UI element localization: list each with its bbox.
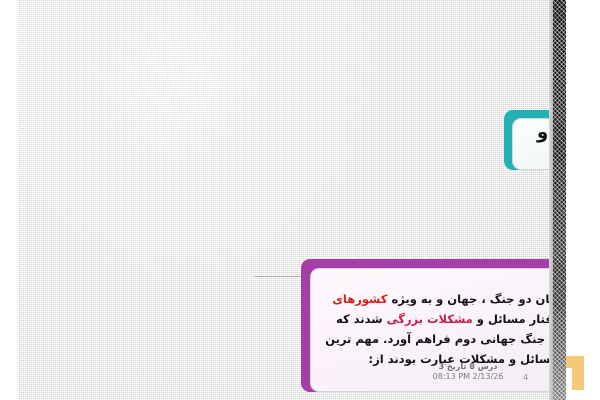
body-paragraph: در فاصله میان دو جنگ ، جهان و به ویژه کش… [311, 290, 554, 369]
slide-footer: درس 8 تاریخ 3 08:13 PM 2/13/26 [393, 362, 543, 381]
slide-canvas: جهان در فاصله دو جنگ بزرگ در فاصله میان … [18, 0, 554, 400]
page-number: 4 [523, 373, 528, 382]
slide-title: جهان در فاصله دو جنگ بزرگ [513, 122, 554, 167]
title-card[interactable]: جهان در فاصله دو جنگ بزرگ [504, 110, 554, 170]
slide-binder-strip [553, 0, 566, 400]
body-text-segment: مشکلات بزرگی [387, 312, 473, 326]
title-card-face: جهان در فاصله دو جنگ بزرگ [512, 118, 554, 170]
body-text-segment: گرفتار مسائل و [473, 312, 554, 326]
timestamp-label: 08:13 PM 2/13/26 [393, 372, 543, 381]
lesson-label: درس 8 تاریخ 3 [393, 362, 543, 371]
body-text-segment: در فاصله میان دو جنگ ، جهان و به ویژه [387, 292, 554, 306]
